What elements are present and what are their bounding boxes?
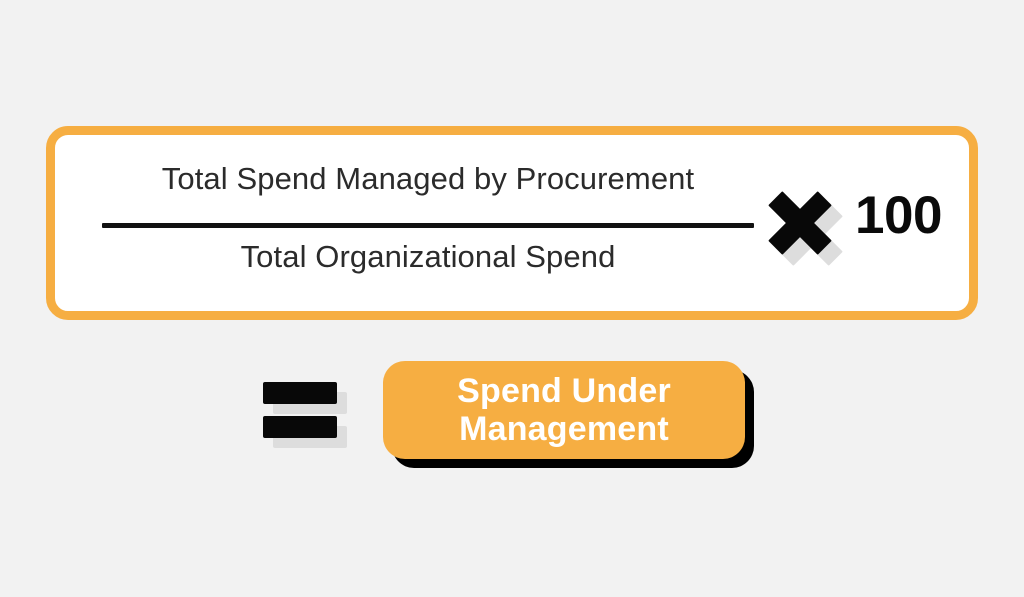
fraction: Total Spend Managed by Procurement Total… bbox=[102, 147, 754, 297]
multiply-icon-glyph bbox=[765, 191, 835, 255]
equals-icon-bar-bottom bbox=[263, 416, 337, 438]
multiplier-value: 100 bbox=[855, 189, 942, 242]
multiply-icon bbox=[765, 191, 849, 267]
equals-icon-bar-top bbox=[263, 382, 337, 404]
result-badge: Spend Under Management bbox=[383, 361, 755, 471]
fraction-denominator: Total Organizational Spend bbox=[102, 239, 754, 275]
diagram-canvas: Total Spend Managed by Procurement Total… bbox=[0, 0, 1024, 597]
result-badge-body: Spend Under Management bbox=[383, 361, 745, 459]
result-label: Spend Under Management bbox=[457, 372, 671, 448]
fraction-numerator: Total Spend Managed by Procurement bbox=[102, 161, 754, 197]
fraction-bar bbox=[102, 223, 754, 228]
equals-icon bbox=[263, 382, 355, 448]
formula-card: Total Spend Managed by Procurement Total… bbox=[46, 126, 978, 320]
